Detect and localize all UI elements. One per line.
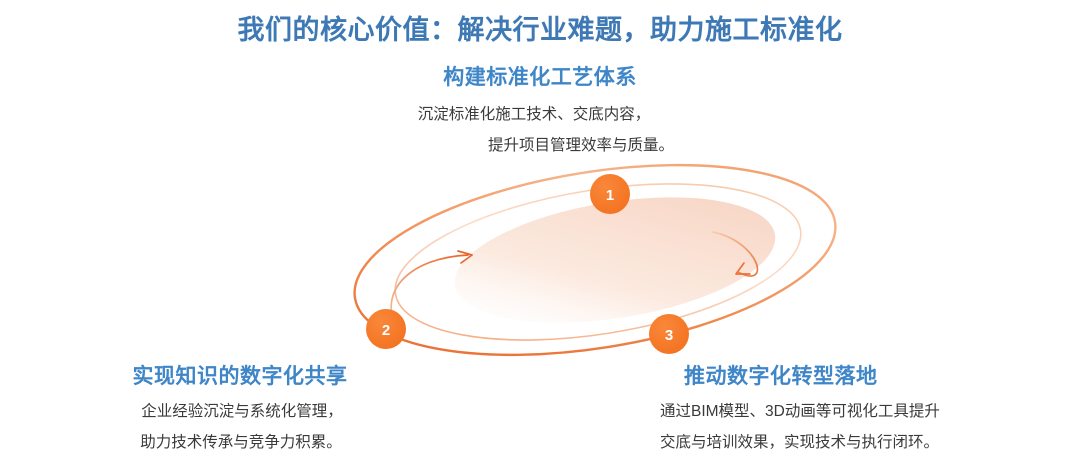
cycle-badge-1-number: 1 [606, 187, 614, 204]
cycle-badge-1[interactable]: 1 [590, 174, 630, 214]
value-block-left-heading: 实现知识的数字化共享 [70, 363, 410, 390]
value-block-left-body-line-1: 企业经验沉淀与系统化管理， [70, 397, 410, 427]
value-block-left: 实现知识的数字化共享 企业经验沉淀与系统化管理， 助力技术传承与竞争力积累。 [70, 363, 410, 458]
page-title: 我们的核心价值：解决行业难题，助力施工标准化 [0, 8, 1080, 47]
value-block-top: 构建标准化工艺体系 沉淀标准化施工技术、交底内容， 提升项目管理效率与质量。 [190, 64, 890, 161]
value-block-left-body-line-2: 助力技术传承与竞争力积累。 [70, 428, 410, 458]
cycle-badge-3-number: 3 [665, 327, 673, 344]
value-block-right-heading: 推动数字化转型落地 [684, 363, 1030, 390]
value-block-right: 推动数字化转型落地 通过BIM模型、3D动画等可视化工具提升 交底与培训效果，实… [660, 363, 1030, 458]
value-block-right-body: 通过BIM模型、3D动画等可视化工具提升 交底与培训效果，实现技术与执行闭环。 [660, 397, 1030, 457]
cycle-badge-3[interactable]: 3 [649, 314, 689, 354]
cycle-badge-2[interactable]: 2 [366, 309, 406, 349]
value-block-right-body-line-2: 交底与培训效果，实现技术与执行闭环。 [660, 428, 1030, 458]
slide-canvas: 我们的核心价值：解决行业难题，助力施工标准化 [0, 0, 1080, 467]
value-block-top-body-line-1: 沉淀标准化施工技术、交底内容， [190, 100, 890, 130]
value-block-top-heading: 构建标准化工艺体系 [190, 64, 890, 91]
value-block-right-body-line-1: 通过BIM模型、3D动画等可视化工具提升 [660, 397, 1030, 427]
cycle-badge-2-number: 2 [382, 322, 390, 339]
value-block-top-body-line-2: 提升项目管理效率与质量。 [190, 131, 890, 161]
value-block-top-body: 沉淀标准化施工技术、交底内容， 提升项目管理效率与质量。 [190, 100, 890, 160]
cycle-diagram: 1 2 3 [340, 150, 860, 380]
value-block-left-body: 企业经验沉淀与系统化管理， 助力技术传承与竞争力积累。 [70, 397, 410, 457]
